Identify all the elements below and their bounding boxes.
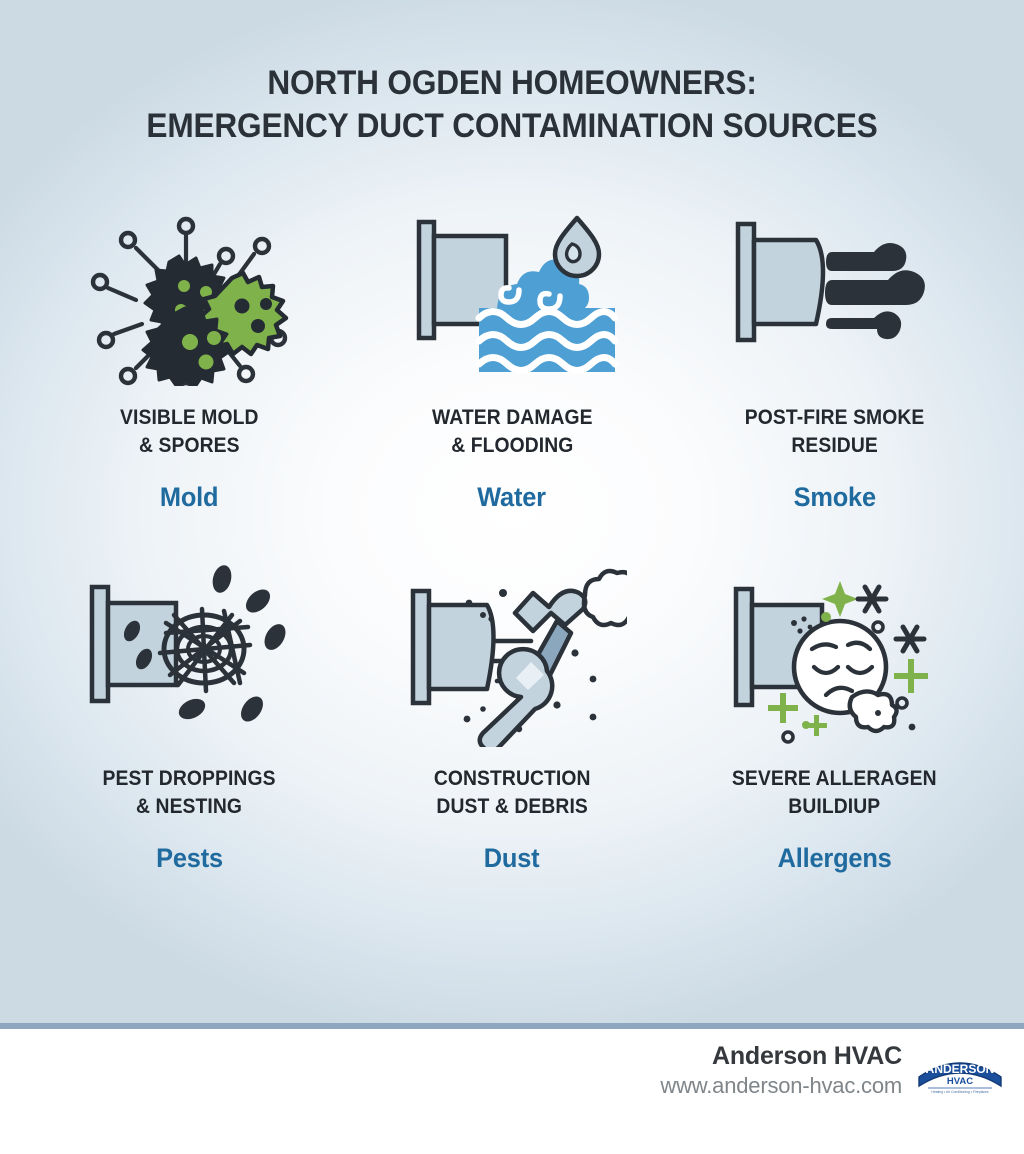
keyword-mold: Mold [160, 482, 218, 513]
caption-smoke-line-2: RESIDUE [745, 432, 925, 460]
brand-website[interactable]: www.anderson-hvac.com [660, 1074, 902, 1098]
footer: Anderson HVAC www.anderson-hvac.com ANDE… [0, 1029, 1024, 1154]
caption-water-line-1: WATER DAMAGE [432, 404, 593, 432]
allergen-sneezing-face-duct-icon [720, 557, 950, 747]
keyword-water: Water [478, 482, 547, 513]
caption-dust: CONSTRUCTION DUST & DEBRIS [434, 765, 591, 821]
keyword-dust: Dust [484, 843, 540, 874]
caption-water: WATER DAMAGE & FLOODING [432, 404, 593, 460]
main-panel: NORTH OGDEN HOMEOWNERS: EMERGENCY DUCT C… [0, 0, 1024, 1023]
caption-allergens-line-2: BUILDIUP [732, 793, 937, 821]
source-card-pests: PEST DROPPINGS & NESTING Pests [28, 557, 351, 874]
construction-tools-duct-icon [397, 557, 627, 747]
caption-allergens-line-1: SEVERE ALLERAGEN [732, 765, 937, 793]
brand-block: Anderson HVAC www.anderson-hvac.com [660, 1043, 902, 1098]
caption-pests-line-1: PEST DROPPINGS [103, 765, 276, 793]
keyword-smoke: Smoke [794, 482, 876, 513]
smoke-duct-icon [720, 196, 950, 386]
logo-sub-text: HVAC [947, 1076, 973, 1087]
source-card-dust: CONSTRUCTION DUST & DEBRIS Dust [351, 557, 674, 874]
caption-mold-line-1: VISIBLE MOLD [120, 404, 259, 432]
logo-tagline: Heating • Air Conditioning • Fireplaces [931, 1090, 989, 1094]
brand-name: Anderson HVAC [660, 1043, 902, 1071]
pest-nest-duct-icon [74, 557, 304, 747]
page-title: NORTH OGDEN HOMEOWNERS: EMERGENCY DUCT C… [36, 0, 988, 148]
source-card-mold: VISIBLE MOLD & SPORES Mold [28, 196, 351, 513]
anderson-hvac-logo[interactable]: ANDERSON HVAC Heating • Air Conditioning… [916, 1047, 1004, 1095]
caption-mold-line-2: & SPORES [120, 432, 259, 460]
caption-pests: PEST DROPPINGS & NESTING [103, 765, 276, 821]
caption-allergens: SEVERE ALLERAGEN BUILDIUP [732, 765, 937, 821]
infographic-root: NORTH OGDEN HOMEOWNERS: EMERGENCY DUCT C… [0, 0, 1024, 1154]
source-card-allergens: SEVERE ALLERAGEN BUILDIUP Allergens [673, 557, 996, 874]
logo-arch-text: ANDERSON [926, 1062, 995, 1076]
title-line-1: NORTH OGDEN HOMEOWNERS: [36, 62, 988, 105]
contamination-source-grid: VISIBLE MOLD & SPORES Mold [28, 196, 996, 874]
caption-dust-line-2: DUST & DEBRIS [434, 793, 591, 821]
caption-water-line-2: & FLOODING [432, 432, 593, 460]
water-damage-duct-icon [397, 196, 627, 386]
source-card-smoke: POST-FIRE SMOKE RESIDUE Smoke [673, 196, 996, 513]
source-card-water: WATER DAMAGE & FLOODING Water [351, 196, 674, 513]
caption-smoke: POST-FIRE SMOKE RESIDUE [745, 404, 925, 460]
caption-pests-line-2: & NESTING [103, 793, 276, 821]
keyword-pests: Pests [156, 843, 223, 874]
mold-spores-icon [74, 196, 304, 386]
caption-smoke-line-1: POST-FIRE SMOKE [745, 404, 925, 432]
title-line-2: EMERGENCY DUCT CONTAMINATION SOURCES [36, 105, 988, 148]
caption-mold: VISIBLE MOLD & SPORES [120, 404, 259, 460]
caption-dust-line-1: CONSTRUCTION [434, 765, 591, 793]
keyword-allergens: Allergens [778, 843, 892, 874]
